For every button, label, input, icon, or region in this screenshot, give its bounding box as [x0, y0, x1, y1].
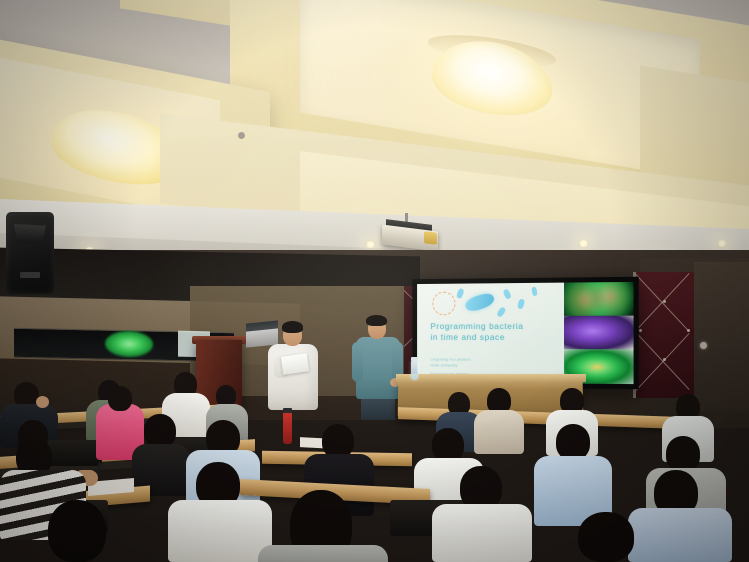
- speaker-logo: [20, 272, 40, 278]
- attendee-head: [666, 436, 700, 472]
- seminar-room-photo: Programming bacteria in time and space L…: [0, 0, 749, 562]
- printed-handout-papers: [281, 353, 309, 374]
- panel-stud: [687, 329, 690, 332]
- downlight-icon: [717, 240, 727, 247]
- panel-stud: [663, 300, 666, 303]
- attendee-grey-tshirt: [258, 545, 388, 562]
- red-water-bottle-cap: [283, 408, 292, 413]
- presenter-2-legs: [361, 396, 395, 420]
- projector-lens-icon: [424, 231, 437, 245]
- slide-title-line-2: in time and space: [430, 331, 556, 342]
- smoke-detector-icon: [238, 132, 245, 139]
- panel-trim-line: [636, 274, 690, 332]
- projected-slide: Programming bacteria in time and space L…: [417, 282, 633, 384]
- water-bottle-cap: [411, 357, 418, 361]
- attendee-long-hair-beige: [474, 410, 524, 454]
- chair-back: [46, 440, 102, 466]
- panel-stud: [663, 358, 666, 361]
- circular-plasmid-diagram-icon: [432, 292, 455, 316]
- attendee-hand: [36, 396, 49, 408]
- projection-screen: Programming bacteria in time and space L…: [412, 277, 638, 390]
- presenter-1-hair: [282, 321, 303, 333]
- presenter-2-left-arm: [352, 342, 363, 382]
- door-handle-icon[interactable]: [700, 342, 707, 349]
- speaker-horn-icon: [14, 224, 46, 244]
- attendee-white-tshirt: [168, 500, 272, 562]
- micrograph-red-overlay: [564, 282, 634, 316]
- attendee-head: [432, 428, 464, 462]
- downlight-icon: [578, 240, 589, 247]
- attendee-head: [48, 500, 106, 562]
- counter-top-edge: [396, 374, 586, 382]
- attendee-white-dress-shirt: [432, 504, 532, 562]
- side-door[interactable]: [694, 262, 749, 412]
- slide-title-line-1: Programming bacteria: [430, 321, 556, 332]
- attendee-pale-blue-shirt: [628, 508, 732, 562]
- slide-author: Lingchong You (Author) Duke University: [430, 357, 547, 369]
- water-bottle: [411, 360, 418, 380]
- attendee-head: [144, 414, 176, 448]
- mirror-reflection-green: [105, 330, 153, 357]
- slide-title: Programming bacteria in time and space: [430, 321, 556, 342]
- purple-magenta-fluorescent-micrograph: [564, 316, 634, 350]
- downlight-icon: [365, 241, 376, 248]
- attendee-head: [556, 424, 590, 460]
- attendee-head: [108, 386, 132, 411]
- presenter-1-torso: [268, 344, 318, 410]
- red-water-bottle: [283, 412, 292, 444]
- wall-mounted-loudspeaker: [6, 212, 54, 294]
- attendee-head: [322, 424, 354, 458]
- presenter-2-hair: [366, 315, 387, 326]
- slide-author-line-2: Duke University: [430, 362, 547, 368]
- panel-stud: [639, 329, 642, 332]
- criss-cross-red-wall-panel: [633, 272, 697, 398]
- attendee-head: [578, 512, 634, 562]
